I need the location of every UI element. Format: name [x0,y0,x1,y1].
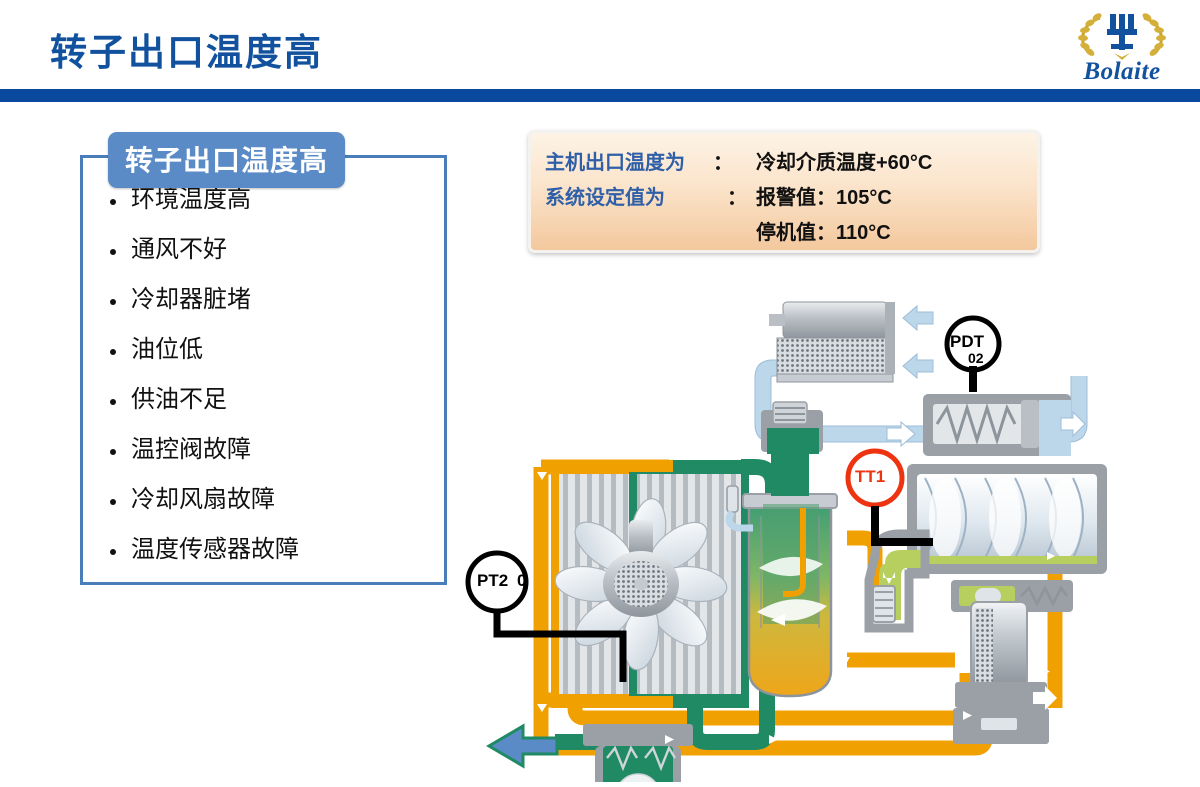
tag-tt1-label: TT1 [855,467,885,487]
causes-panel-title: 转子出口温度高 [108,132,345,188]
list-item: 油位低 [104,338,444,362]
list-item: 冷却器脏堵 [104,288,444,312]
air-cooler-bottom-rail [673,696,749,708]
list-item: 冷却风扇故障 [104,488,444,512]
oil-scavenge-filter [873,586,895,622]
air-cooler-top-rail [673,460,749,472]
list-item: 温控阀故障 [104,438,444,462]
spec-label-setpoint: 系统设定值为 [545,181,665,210]
spec-label-outlet-temp: 主机出口温度为 [545,146,685,175]
list-item: 通风不好 [104,238,444,262]
air-filter [769,302,895,382]
spec-value-alarm: 报警值：105°C [756,181,892,210]
screw-compressor-element [907,464,1107,574]
list-item: 温度传感器故障 [104,538,444,562]
tag-pt2-label: PT2 [477,571,508,591]
tag-pt2-sublabel: 0 [517,571,526,591]
header-divider [0,89,1200,102]
brand-logo: Bolaite [1052,6,1192,86]
tag-pdt-label: PDT [950,332,984,352]
thermostatic-valve [583,724,693,782]
intake-valve [923,394,1085,456]
tag-pdt-sublabel: 02 [968,350,984,366]
air-intake-arrows [903,306,933,378]
compressor-schematic: PDT 02 TT1 PT2 0 [455,268,1200,782]
spec-colon-2: ： [727,181,747,210]
page-title: 转子出口温度高 [50,22,323,76]
sight-glass [727,486,738,512]
causes-list: 环境温度高 通风不好 冷却器脏堵 油位低 供油不足 温控阀故障 冷却风扇故障 温… [104,188,444,588]
list-item: 供油不足 [104,388,444,412]
spec-value-outlet-temp: 冷却介质温度+60°C [756,146,932,175]
brand-name: Bolaite [1052,58,1192,86]
list-item: 环境温度高 [104,188,444,212]
compressor-schematic-svg [455,268,1200,782]
spec-colon-1: ： [713,146,733,175]
slide-root: 转子出口温度高 [0,0,1200,782]
wreath-emblem-icon [1052,6,1192,64]
spec-value-shutdown: 停机值：110°C [756,216,891,245]
flow-arrow-to-separator [729,424,753,448]
spec-info-box: 主机出口温度为 ： 冷却介质温度+60°C 系统设定值为 ： 报警值：105°C… [528,130,1040,253]
